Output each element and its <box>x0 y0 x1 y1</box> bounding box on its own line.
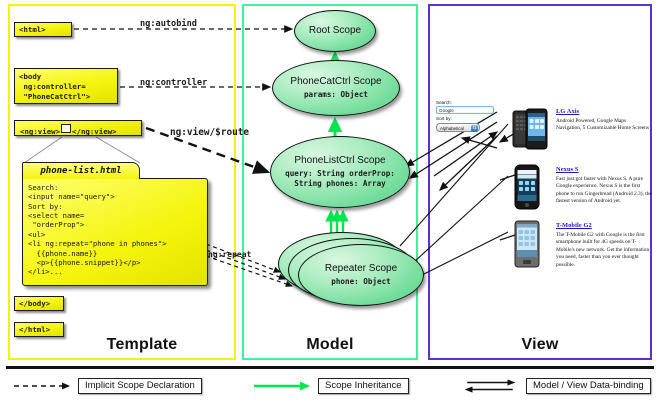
scope-phonelistctrl: PhoneListCtrl Scope query: String orderP… <box>270 136 410 208</box>
phone-snippet: Fast just got faster with Nexus S. A pur… <box>556 176 652 206</box>
code-tag-body-close: </body> <box>14 296 64 311</box>
code-tag-html-close: </html> <box>14 322 64 337</box>
legend-label-implicit: Implicit Scope Declaration <box>78 378 202 394</box>
double-arrow-icon <box>460 379 520 393</box>
sort-label: Sort by: <box>436 116 496 122</box>
scope-phonecatctrl: PhoneCatCtrl Scope params: Object <box>272 60 400 116</box>
panel-label-view: View <box>430 336 650 354</box>
scope-root: Root Scope <box>294 10 376 52</box>
scope-phonelistctrl-title: PhoneListCtrl Scope <box>294 155 385 166</box>
template-callout-phone-list: phone-list.html Search: <input name="que… <box>22 162 208 286</box>
code-tag-html: <html> <box>14 22 72 37</box>
legend-label-inheritance: Scope Inheritance <box>318 378 409 394</box>
phone-name-link[interactable]: Nexus S <box>556 166 652 173</box>
scope-repeater: Repeater Scope phone: Object <box>298 244 424 306</box>
connector-label-ngrepeat: ng:repeat <box>208 250 251 259</box>
ngview-placeholder-icon <box>61 124 71 133</box>
scope-phonecatctrl-props: params: Object <box>304 90 368 100</box>
diagram-canvas: Template Model View <box>0 0 660 405</box>
callout-code: Search: <input name="query"> Sort by: <s… <box>22 178 208 286</box>
connector-label-ngview-route: ng:view/$route <box>170 127 249 138</box>
connector-label-controller: ng:controller <box>140 78 207 88</box>
panel-label-template: Template <box>10 336 234 354</box>
connector-label-autobind: ng:autobind <box>140 19 197 29</box>
phone-thumbnail-lg-axis <box>512 108 548 152</box>
ngview-close-tag: </ng:view> <box>72 127 117 136</box>
phone-name-link[interactable]: T-Mobile G2 <box>556 222 652 229</box>
phone-entry: LG Axis Android Powered, Google Maps Nav… <box>556 108 652 133</box>
phone-snippet: Android Powered, Google Maps Navigation,… <box>556 118 652 133</box>
legend-item-data-binding: Model / View Data-binding <box>460 378 651 394</box>
dashed-arrow-icon <box>12 379 72 393</box>
scope-root-title: Root Scope <box>309 25 361 36</box>
phone-entry: T-Mobile G2 The T-Mobile G2 with Google … <box>556 222 652 269</box>
phone-name-link[interactable]: LG Axis <box>556 108 652 115</box>
legend-item-scope-inheritance: Scope Inheritance <box>252 378 409 394</box>
view-search-form: Search: Google Sort by: Alphabetical⇅ <box>436 100 496 132</box>
legend-label-databinding: Model / View Data-binding <box>526 378 651 394</box>
scope-repeater-title: Repeater Scope <box>325 263 397 274</box>
phone-thumbnail-nexus-s <box>512 164 542 210</box>
phone-thumbnail-t-mobile-g2 <box>512 220 542 268</box>
scope-phonecatctrl-title: PhoneCatCtrl Scope <box>290 76 381 87</box>
legend-divider <box>6 366 654 369</box>
code-tag-ngview: <ng:view></ng:view> <box>14 120 142 136</box>
ngview-open-tag: <ng:view> <box>20 127 60 136</box>
sort-select[interactable]: Alphabetical⇅ <box>436 123 480 132</box>
green-arrow-icon <box>252 379 312 393</box>
code-tag-body: <body ng:controller= "PhoneCatCtrl"> <box>14 68 118 104</box>
scope-repeater-props: phone: Object <box>331 277 390 287</box>
callout-title: phone-list.html <box>22 162 140 179</box>
chevron-updown-icon: ⇅ <box>471 125 478 132</box>
legend-item-implicit-scope: Implicit Scope Declaration <box>12 378 202 394</box>
phone-snippet: The T-Mobile G2 with Google is the first… <box>556 232 652 270</box>
sort-select-value: Alphabetical <box>440 126 464 131</box>
phone-entry: Nexus S Fast just got faster with Nexus … <box>556 166 652 206</box>
scope-phonelistctrl-props: query: String orderProp: String phones: … <box>271 169 409 188</box>
search-input[interactable]: Google <box>436 106 494 114</box>
panel-label-model: Model <box>244 336 416 354</box>
